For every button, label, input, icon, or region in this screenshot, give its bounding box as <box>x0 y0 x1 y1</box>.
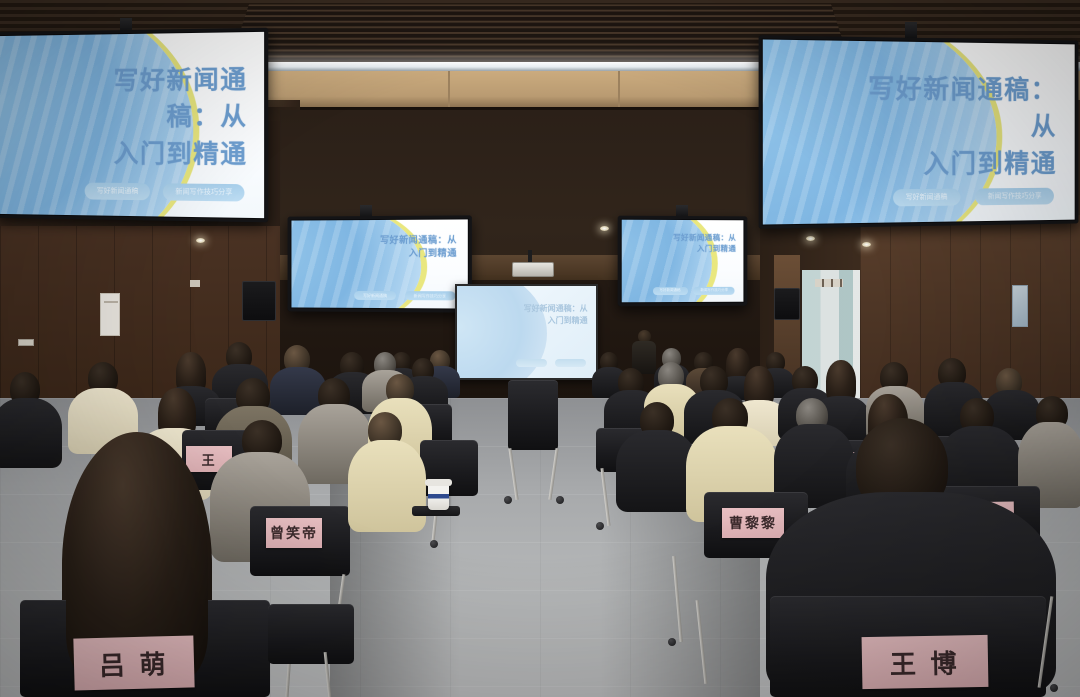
ceiling-projector <box>512 262 554 277</box>
tv-bezel <box>288 215 472 312</box>
front-projection-screen: 写好新闻通稿：从 入门到精通 <box>455 284 598 380</box>
name-placard: 曾笑帝 <box>266 518 322 548</box>
right-wall-tv: 写好新闻通稿：从 入门到精通 写好新闻通稿 新闻写作技巧分享 <box>759 35 1079 228</box>
wall-switch-panel-right[interactable] <box>815 279 843 287</box>
slide-badge-left <box>516 359 547 367</box>
tv-bezel <box>759 35 1079 228</box>
wall-sign-plate <box>190 280 200 287</box>
center-left-tv: 写好新闻通稿：从 入门到精通 写好新闻通稿 新闻写作技巧分享 <box>288 215 472 312</box>
downlight-icon <box>862 242 871 247</box>
slide-badges <box>516 359 586 367</box>
slide-badge-right <box>555 359 586 367</box>
attendee-body <box>348 440 426 532</box>
soffit-seam <box>618 71 620 107</box>
empty-chair-back <box>508 380 558 450</box>
wall-poster <box>1012 285 1028 327</box>
chair-caster <box>556 496 564 504</box>
ceiling-wood-slats <box>230 4 849 61</box>
tv-bezel <box>618 216 748 307</box>
left-wall-tv: 写好新闻通稿：从 入门到精通 写好新闻通稿 新闻写作技巧分享 <box>0 28 268 223</box>
attendee-body <box>0 398 62 468</box>
slide-title: 写好新闻通稿：从 入门到精通 <box>496 303 588 327</box>
slide-title-line2: 入门到精通 <box>548 316 588 325</box>
slide-title-line1: 写好新闻通稿：从 <box>524 304 588 313</box>
downlight-icon <box>806 236 815 241</box>
downlight-icon <box>196 238 205 243</box>
chair-caster <box>430 540 438 548</box>
center-right-tv: 写好新闻通稿：从 入门到精通 写好新闻通稿 新闻写作技巧分享 <box>618 216 748 307</box>
wall-speaker-right <box>774 288 800 320</box>
chair-caster <box>504 496 512 504</box>
wall-switch-panel[interactable] <box>18 339 34 346</box>
chair-back <box>268 604 354 664</box>
chair-caster <box>668 638 676 646</box>
downlight-icon <box>600 226 609 231</box>
wall-speaker-left <box>242 281 276 321</box>
name-placard-mid-right-a: 曹黎黎 <box>722 508 784 538</box>
projection-surface: 写好新闻通稿：从 入门到精通 <box>457 286 596 378</box>
chair-caster <box>596 522 604 530</box>
coffee-cup <box>428 484 449 510</box>
notice-sheet <box>100 293 120 336</box>
chair-caster <box>1050 684 1058 692</box>
name-placard-front-left: 吕 萌 <box>73 635 194 690</box>
soffit-seam <box>448 71 450 107</box>
presenter <box>632 330 656 374</box>
name-placard-front-right: 王 博 <box>862 635 989 689</box>
coffee-cup-lid <box>425 479 452 486</box>
conference-hall-photo: 写好新闻通稿：从 入门到精通 写好新闻通稿 新闻写作技巧分享 写好新闻通稿：从 … <box>0 0 1080 697</box>
tv-bezel <box>0 28 268 223</box>
